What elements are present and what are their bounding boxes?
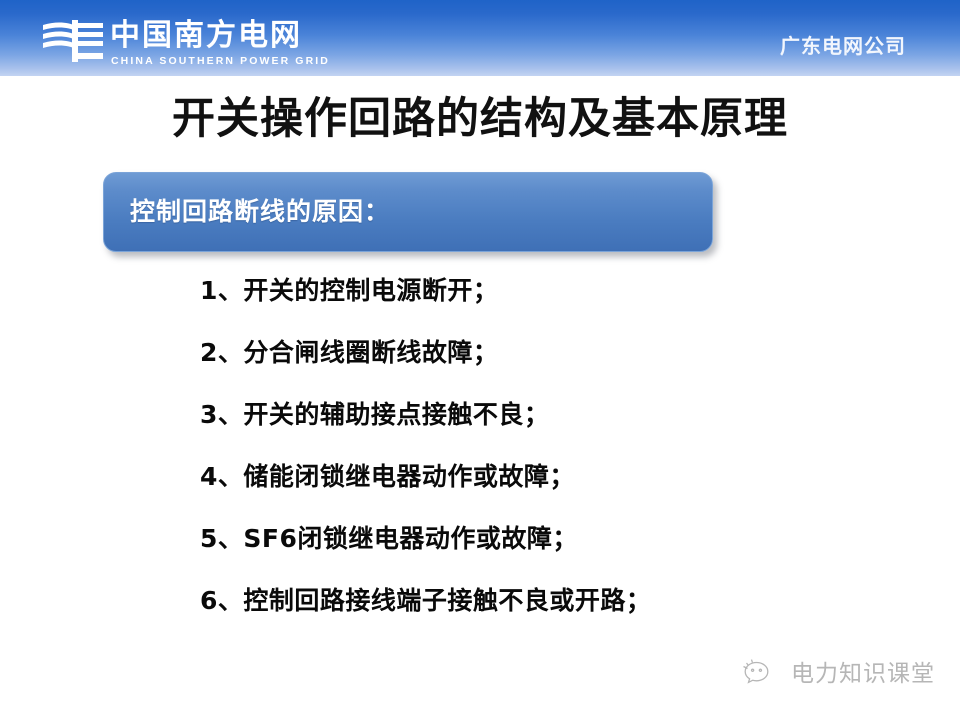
company-name-label: 广东电网公司 [780,34,906,58]
list-item: 3、开关的辅助接点接触不良； [200,398,900,460]
list-item: 5、SF6闭锁继电器动作或故障； [200,522,900,584]
presentation-slide: 中国南方电网 CHINA SOUTHERN POWER GRID 广东电网公司 … [0,0,960,720]
wechat-icon [742,657,782,691]
watermark-label: 电力知识课堂 [791,660,935,688]
subtitle-label: 控制回路断线的原因： [130,196,390,228]
watermark: 电力知识课堂 [742,657,935,691]
cause-list: 1、开关的控制电源断开； 2、分合闸线圈断线故障； 3、开关的辅助接点接触不良；… [200,274,900,646]
page-title: 开关操作回路的结构及基本原理 [0,93,960,145]
list-item: 2、分合闸线圈断线故障； [200,336,900,398]
slide-header-banner: 中国南方电网 CHINA SOUTHERN POWER GRID 广东电网公司 [0,0,960,76]
list-item: 4、储能闭锁继电器动作或故障； [200,460,900,522]
list-item: 1、开关的控制电源断开； [200,274,900,336]
logo-text-chinese: 中国南方电网 [110,19,302,53]
logo-text-english: CHINA SOUTHERN POWER GRID [111,55,330,67]
list-item: 6、控制回路接线端子接触不良或开路； [200,584,900,646]
china-southern-power-grid-logo-icon [42,19,104,63]
subtitle-banner: 控制回路断线的原因： [103,172,713,252]
